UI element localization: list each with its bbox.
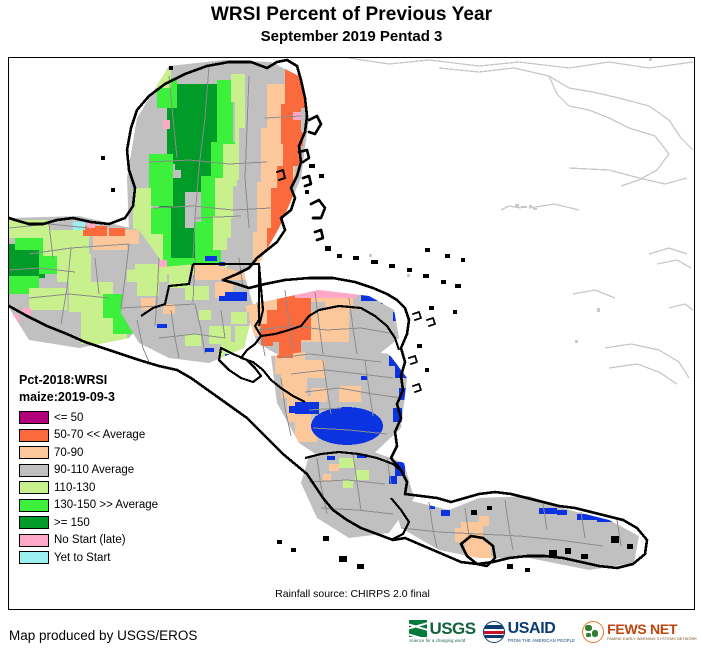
legend-row: No Start (late) bbox=[19, 532, 209, 550]
legend-swatch bbox=[19, 446, 49, 459]
legend-label: 90-110 Average bbox=[54, 464, 134, 476]
usgs-mark-icon bbox=[409, 620, 427, 637]
legend-swatch bbox=[19, 411, 49, 424]
usaid-seal-icon bbox=[483, 621, 505, 643]
legend-items: <= 5050-70 << Average70-9090-110 Average… bbox=[19, 409, 209, 567]
legend-row: 110-130 bbox=[19, 479, 209, 497]
map-credit: Map produced by USGS/EROS bbox=[9, 628, 197, 643]
legend-label: 70-90 bbox=[54, 447, 83, 459]
title-block: WRSI Percent of Previous Year September … bbox=[0, 0, 703, 47]
usaid-logo[interactable]: USAID FROM THE AMERICAN PEOPLE bbox=[483, 621, 576, 643]
legend-row: Yet to Start bbox=[19, 549, 209, 567]
legend-swatch bbox=[19, 551, 49, 564]
legend-swatch bbox=[19, 516, 49, 529]
fewsnet-globe-icon bbox=[582, 621, 604, 643]
legend-label: Yet to Start bbox=[54, 552, 110, 564]
usgs-logo-text: USGS bbox=[429, 620, 475, 637]
map-frame[interactable]: Pct-2018:WRSI maize:2019-09-3 <= 5050-70… bbox=[8, 57, 695, 610]
legend-swatch bbox=[19, 499, 49, 512]
page-title: WRSI Percent of Previous Year bbox=[0, 4, 703, 26]
legend-label: 110-130 bbox=[54, 482, 95, 494]
usgs-logo-tagline: science for a changing world bbox=[409, 638, 465, 643]
legend-row: <= 50 bbox=[19, 409, 209, 427]
legend-label: 50-70 << Average bbox=[54, 429, 145, 441]
fewsnet-logo-tagline: FAMINE EARLY WARNING SYSTEMS NETWORK bbox=[607, 637, 697, 641]
legend-label: >= 150 bbox=[54, 517, 90, 529]
rainfall-source-note: Rainfall source: CHIRPS 2.0 final bbox=[9, 588, 695, 600]
fewsnet-logo[interactable]: FEWS NET FAMINE EARLY WARNING SYSTEMS NE… bbox=[582, 621, 697, 643]
legend-swatch bbox=[19, 534, 49, 547]
fewsnet-logo-text: FEWS NET bbox=[607, 622, 697, 636]
legend-title-line1: Pct-2018:WRSI bbox=[19, 372, 209, 389]
legend-swatch bbox=[19, 464, 49, 477]
legend-row: >= 150 bbox=[19, 514, 209, 532]
legend-swatch bbox=[19, 481, 49, 494]
usgs-logo[interactable]: USGS science for a changing world bbox=[409, 620, 475, 643]
logo-strip: USGS science for a changing world USAID … bbox=[409, 620, 697, 643]
legend-label: 130-150 >> Average bbox=[54, 499, 158, 511]
page-subtitle: September 2019 Pentad 3 bbox=[0, 27, 703, 47]
legend-row: 130-150 >> Average bbox=[19, 497, 209, 515]
legend-swatch bbox=[19, 429, 49, 442]
legend-label: No Start (late) bbox=[54, 534, 126, 546]
legend-title-line2: maize:2019-09-3 bbox=[19, 389, 209, 406]
legend-row: 90-110 Average bbox=[19, 462, 209, 480]
legend-label: <= 50 bbox=[54, 412, 83, 424]
usaid-logo-tagline: FROM THE AMERICAN PEOPLE bbox=[508, 638, 576, 643]
usaid-logo-text: USAID bbox=[508, 621, 576, 637]
legend-row: 50-70 << Average bbox=[19, 427, 209, 445]
map-legend: Pct-2018:WRSI maize:2019-09-3 <= 5050-70… bbox=[19, 372, 209, 567]
legend-row: 70-90 bbox=[19, 444, 209, 462]
footer: Map produced by USGS/EROS USGS science f… bbox=[0, 612, 703, 662]
